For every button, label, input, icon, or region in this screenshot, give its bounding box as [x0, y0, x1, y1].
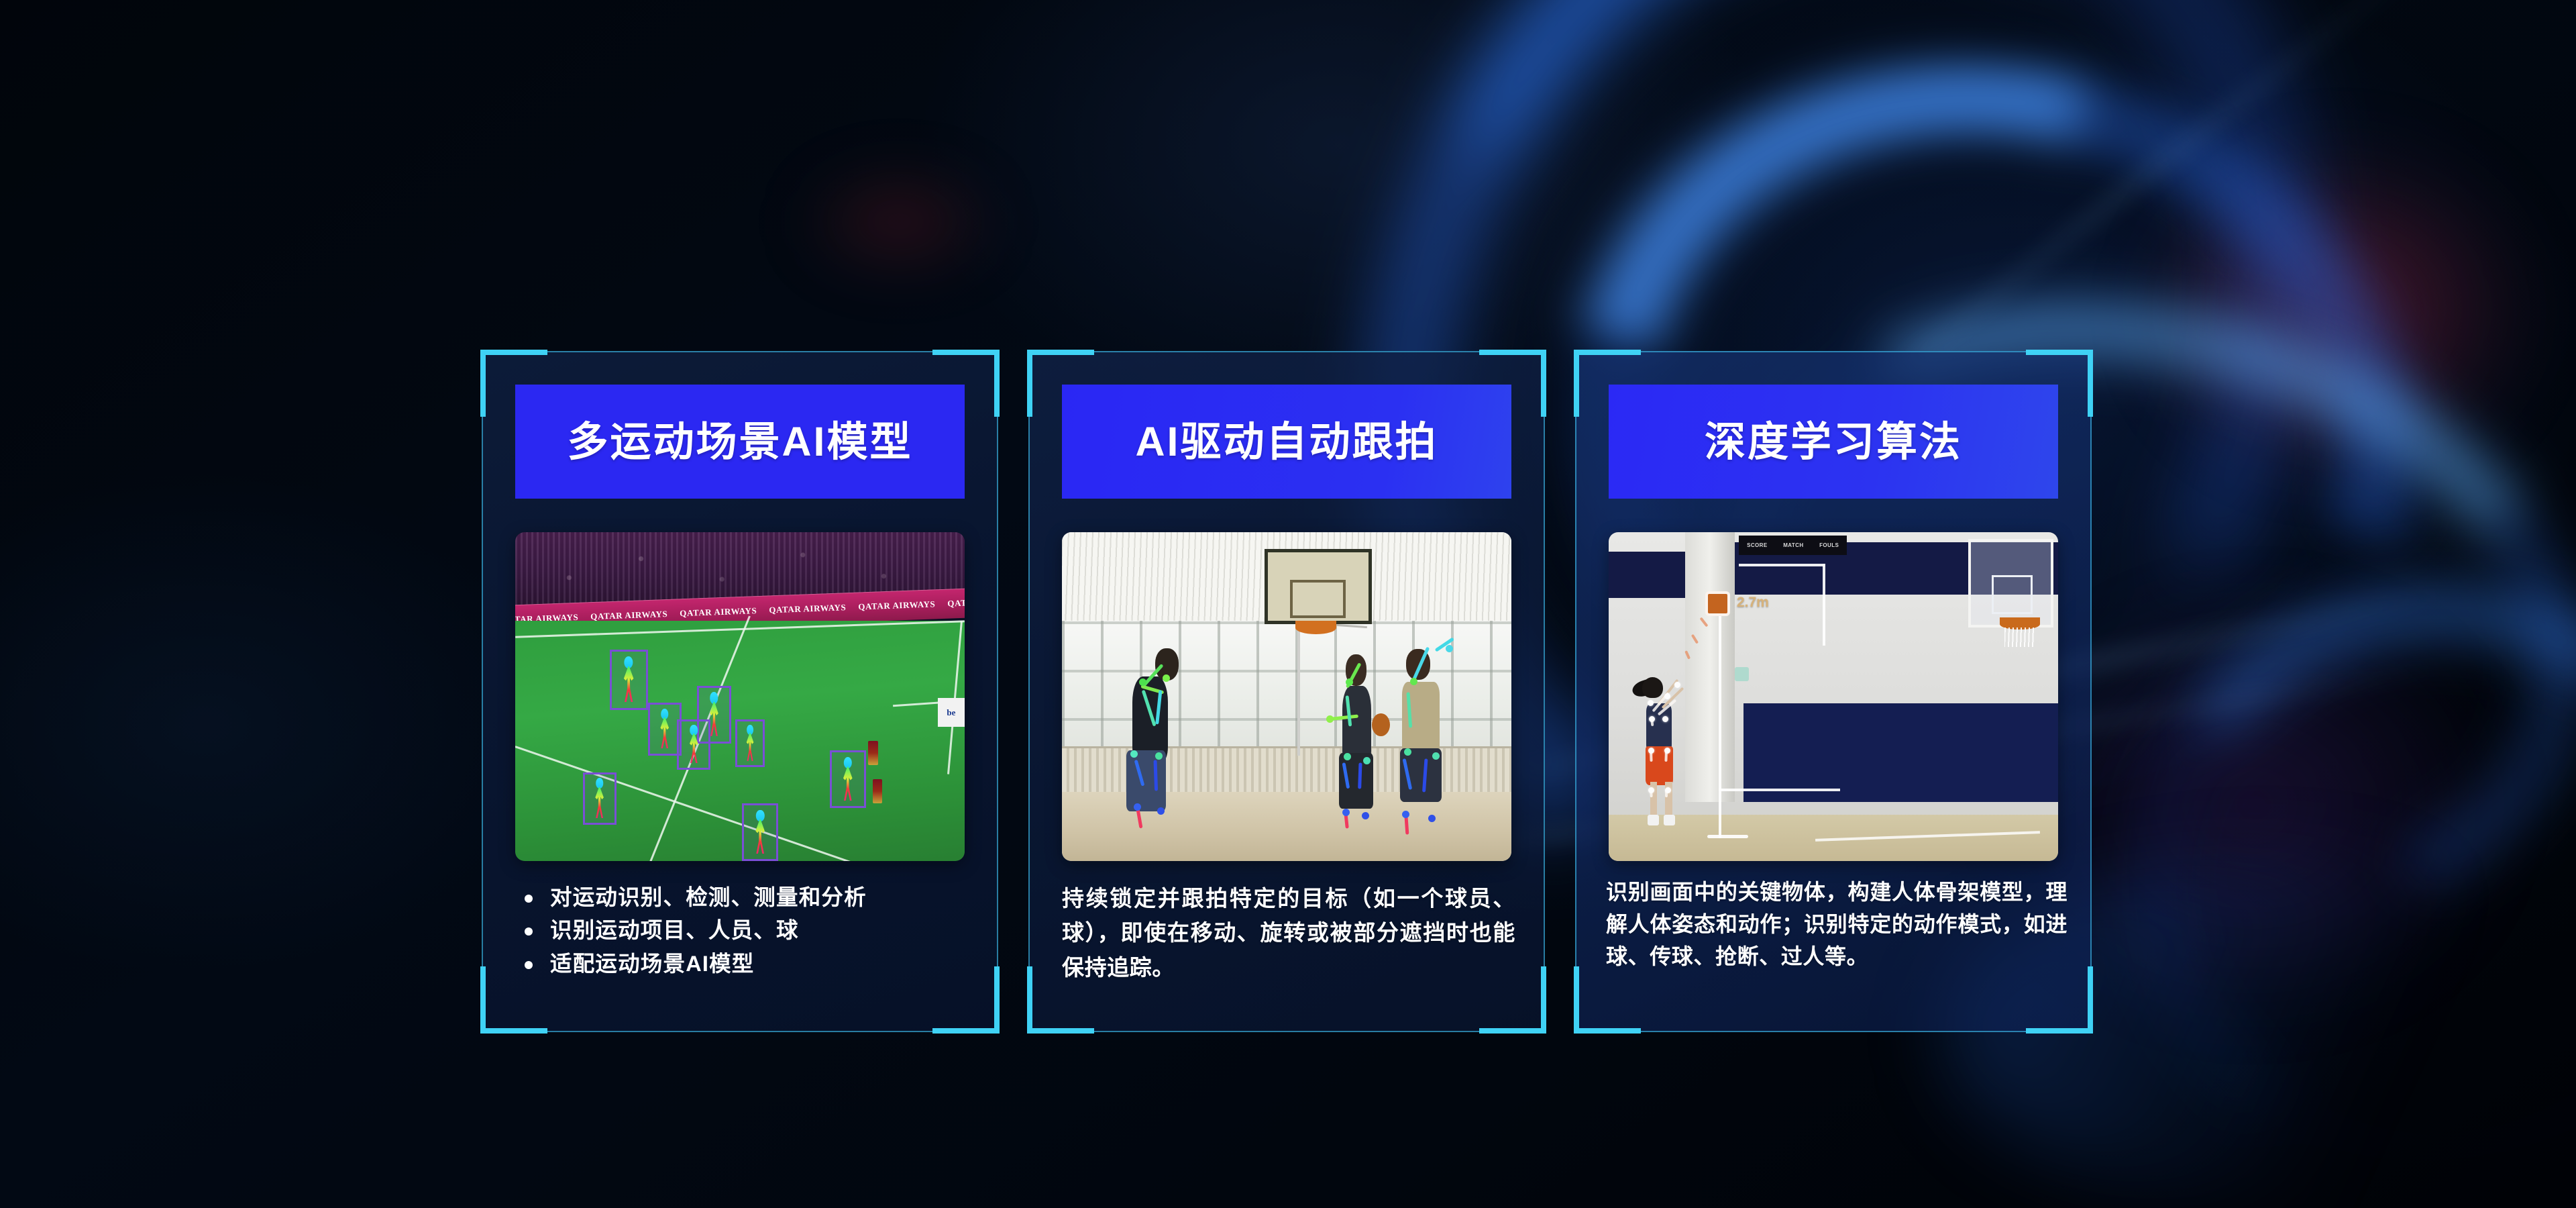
- joint: [1346, 678, 1353, 686]
- bone: [1358, 762, 1362, 789]
- pitchside-logo: be: [938, 698, 965, 727]
- sponsor-text-2: QATAR AIRWAYS: [590, 609, 668, 622]
- basketball-net: [2004, 627, 2036, 647]
- soccer-scene: QATAR AIRWAYS QATAR AIRWAYS QATAR AIRWAY…: [515, 532, 965, 861]
- pitch: be: [515, 621, 965, 861]
- wall-pillar: [1685, 532, 1735, 802]
- opponent-player: [868, 741, 878, 765]
- joint: [1362, 812, 1369, 819]
- measurement-overlay-line: [1739, 564, 1824, 566]
- joint: [1163, 674, 1170, 682]
- free-throw-measurement-thumbnail[interactable]: SCORE MATCH FOULS 2.7m: [1609, 532, 2058, 861]
- keypoint: [1674, 682, 1680, 688]
- sponsor-text-6: QATAR AIRWAYS: [947, 595, 965, 609]
- detection-box: [610, 650, 648, 709]
- basketball: [1372, 713, 1390, 736]
- joint: [1157, 807, 1165, 815]
- bone: [1136, 809, 1142, 829]
- scoreboard-label-fouls: FOULS: [1819, 542, 1839, 548]
- keypoint: [1648, 700, 1654, 706]
- sponsor-text-3: QATAR AIRWAYS: [680, 605, 757, 619]
- list-item: 适配运动场景AI模型: [515, 948, 969, 980]
- ball-tracking-box: [1705, 591, 1730, 616]
- joint: [1326, 715, 1334, 723]
- basketball-backboard: [1265, 549, 1373, 625]
- measurement-ground-marker: [1707, 835, 1748, 838]
- measurement-overlay-line: [1719, 601, 1721, 838]
- joint: [1428, 815, 1436, 822]
- joint: [1130, 750, 1138, 758]
- bone: [1344, 814, 1348, 829]
- scoreboard-label-score: SCORE: [1747, 542, 1767, 548]
- soccer-detection-thumbnail[interactable]: QATAR AIRWAYS QATAR AIRWAYS QATAR AIRWAY…: [515, 532, 965, 861]
- gym-scene: [1062, 532, 1511, 861]
- player-shoe: [1648, 815, 1659, 825]
- player-torso: [1646, 703, 1672, 750]
- card-body: 对运动识别、检测、测量和分析 识别运动项目、人员、球 适配运动场景AI模型: [515, 881, 969, 1008]
- card-body: 识别画面中的关键物体，构建人体骨架模型，理解人体姿态和动作；识别特定的动作模式，…: [1606, 876, 2068, 1008]
- scoreboard-label-match: MATCH: [1783, 542, 1803, 548]
- court-scene: SCORE MATCH FOULS 2.7m: [1609, 532, 2058, 861]
- bone: [1405, 816, 1409, 834]
- detection-box: [677, 719, 710, 770]
- feature-card-deep-learning-algorithm[interactable]: 深度学习算法 SCORE MATCH FOULS: [1575, 351, 2092, 1032]
- pose-skeleton: [1116, 644, 1205, 848]
- player-head: [1642, 677, 1663, 699]
- wall-fixture: [1735, 667, 1749, 682]
- card-description: 持续锁定并跟拍特定的目标（如一个球员、球），即使在移动、旋转或被部分遮挡时也能保…: [1062, 881, 1515, 985]
- list-item: 对运动识别、检测、测量和分析: [515, 881, 969, 914]
- detection-box: [742, 803, 778, 861]
- feature-card-multi-sport-ai-model[interactable]: 多运动场景AI模型 QATAR AIRWAYS QATAR AIRWAYS QA…: [482, 351, 998, 1032]
- detection-box: [735, 719, 765, 768]
- opponent-player: [873, 779, 883, 803]
- joint: [1446, 645, 1453, 652]
- keypoint: [1648, 787, 1654, 793]
- sponsor-text-4: QATAR AIRWAYS: [769, 602, 847, 615]
- card-header-banner: AI驱动自动跟拍: [1062, 385, 1511, 499]
- player-shoe: [1664, 815, 1675, 825]
- card-title: AI驱动自动跟拍: [1135, 421, 1438, 462]
- hoop-pole: [1297, 624, 1300, 756]
- scoreboard: SCORE MATCH FOULS: [1739, 536, 1847, 555]
- card-header-banner: 多运动场景AI模型: [515, 385, 965, 499]
- keypoint: [1664, 748, 1670, 754]
- detection-box: [583, 772, 616, 825]
- joint: [1134, 803, 1141, 811]
- joint: [1342, 809, 1350, 816]
- feature-bullet-list: 对运动识别、检测、测量和分析 识别运动项目、人员、球 适配运动场景AI模型: [515, 881, 969, 980]
- keypoint: [1665, 787, 1671, 793]
- distance-measurement-label: 2.7m: [1737, 595, 1769, 611]
- joint: [1155, 752, 1163, 760]
- basketball-rim: [1295, 621, 1336, 634]
- joint: [1432, 752, 1440, 760]
- gym-basketball-pose-thumbnail[interactable]: [1062, 532, 1511, 861]
- card-description: 识别画面中的关键物体，构建人体骨架模型，理解人体姿态和动作；识别特定的动作模式，…: [1606, 876, 2068, 972]
- card-title: 深度学习算法: [1705, 421, 1962, 462]
- joint: [1402, 811, 1409, 818]
- sponsor-text-5: QATAR AIRWAYS: [858, 599, 936, 612]
- list-item: 识别运动项目、人员、球: [515, 914, 969, 947]
- keypoint: [1648, 748, 1654, 754]
- feature-card-ai-auto-tracking[interactable]: AI驱动自动跟拍: [1028, 351, 1545, 1032]
- wall-navy-padding: [1743, 703, 2058, 802]
- measurement-overlay-line: [1823, 564, 1825, 646]
- feature-card-row: 多运动场景AI模型 QATAR AIRWAYS QATAR AIRWAYS QA…: [0, 0, 2576, 1208]
- basketball-backboard: [1968, 539, 2053, 627]
- pose-skeleton: [1377, 641, 1475, 848]
- card-body: 持续锁定并跟拍特定的目标（如一个球员、球），即使在移动、旋转或被部分遮挡时也能保…: [1062, 881, 1515, 1008]
- measurement-overlay-line: [1719, 789, 1840, 791]
- card-title: 多运动场景AI模型: [567, 421, 912, 462]
- card-header-banner: 深度学习算法: [1609, 385, 2058, 499]
- detection-box: [830, 750, 866, 808]
